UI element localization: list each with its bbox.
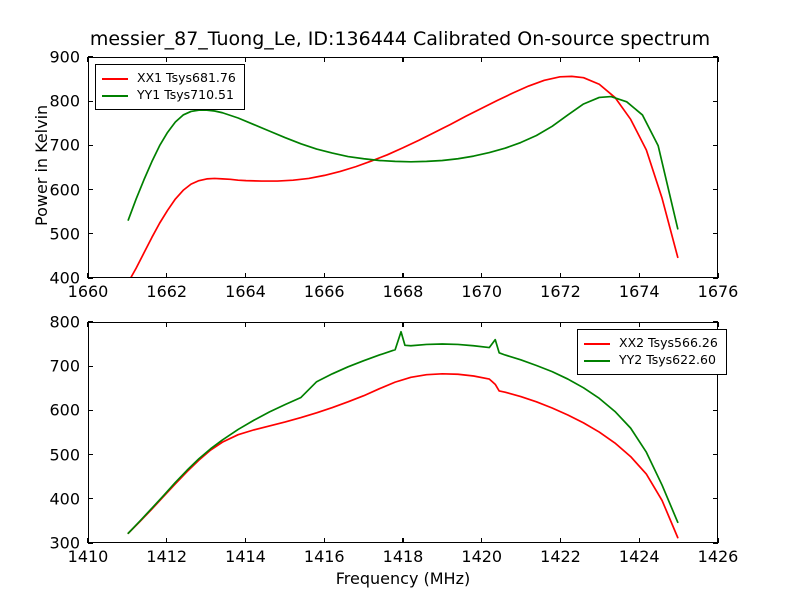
series-line [128,374,678,538]
legend-line-swatch-icon [102,95,128,97]
y-tick-mark [713,542,718,543]
x-tick-label: 1674 [619,282,660,301]
x-tick-mark [402,57,403,62]
y-tick-mark [713,277,718,278]
y-tick-mark [713,145,718,146]
x-tick-label: 1422 [540,547,581,566]
series-line [128,97,678,229]
y-tick-mark [713,410,718,411]
legend-entry: YY2 Tsys622.60 [584,352,718,369]
legend-entry: YY1 Tsys710.51 [102,87,236,104]
y-tick-mark [713,189,718,190]
y-tick-mark [88,542,93,543]
legend-label: YY1 Tsys710.51 [137,89,234,102]
figure-canvas: messier_87_Tuong_Le, ID:136444 Calibrate… [0,0,800,600]
x-tick-mark [481,322,482,327]
x-tick-mark [481,273,482,278]
x-tick-mark [639,57,640,62]
y-tick-mark [88,277,93,278]
y-tick-mark [88,410,93,411]
x-tick-label: 1420 [461,547,502,566]
x-tick-mark [245,273,246,278]
x-tick-mark [324,57,325,62]
y-tick-mark [713,233,718,234]
x-tick-mark [481,538,482,543]
x-tick-mark [402,322,403,327]
y-tick-label: 700 [28,357,80,376]
legend-line-swatch-icon [584,343,610,345]
x-tick-label: 1414 [225,547,266,566]
y-tick-mark [88,454,93,455]
x-tick-label: 1418 [383,547,424,566]
y-tick-label: 500 [28,445,80,464]
y-tick-mark [88,145,93,146]
y-tick-label: 400 [28,269,80,288]
x-tick-mark [717,57,718,62]
x-tick-label: 1676 [698,282,739,301]
y-tick-mark [88,189,93,190]
x-tick-mark [402,538,403,543]
legend-label: XX2 Tsys566.26 [619,337,718,350]
x-tick-mark [324,538,325,543]
x-tick-mark [166,322,167,327]
y-tick-label: 500 [28,224,80,243]
x-tick-mark [639,538,640,543]
x-tick-label: 1672 [540,282,581,301]
y-tick-label: 600 [28,401,80,420]
x-tick-mark [639,273,640,278]
x-tick-mark [717,322,718,327]
x-tick-mark [87,57,88,62]
page-title: messier_87_Tuong_Le, ID:136444 Calibrate… [0,28,800,50]
x-tick-label: 1416 [304,547,345,566]
x-tick-mark [245,322,246,327]
y-tick-mark [713,498,718,499]
x-tick-label: 1668 [383,282,424,301]
y-tick-mark [713,454,718,455]
x-tick-label: 1412 [146,547,187,566]
x-tick-mark [639,322,640,327]
x-tick-label: 1426 [698,547,739,566]
x-tick-mark [324,273,325,278]
x-tick-mark [560,273,561,278]
x-tick-mark [166,538,167,543]
x-tick-label: 1666 [304,282,345,301]
y-tick-mark [88,56,93,57]
x-tick-mark [560,57,561,62]
y-tick-mark [88,321,93,322]
legend-line-swatch-icon [584,360,610,362]
x-tick-label: 1662 [146,282,187,301]
legend-bottom: XX2 Tsys566.26YY2 Tsys622.60 [577,329,727,375]
x-tick-mark [402,273,403,278]
y-tick-mark [713,56,718,57]
y-tick-mark [713,101,718,102]
legend-entry: XX2 Tsys566.26 [584,335,718,352]
legend-entry: XX1 Tsys681.76 [102,70,236,87]
x-tick-label: 1664 [225,282,266,301]
x-tick-mark [560,538,561,543]
x-tick-label: 1670 [461,282,502,301]
y-tick-label: 800 [28,313,80,332]
x-tick-mark [560,322,561,327]
x-axis-label: Frequency (MHz) [336,569,470,588]
y-tick-mark [88,101,93,102]
y-tick-mark [88,498,93,499]
legend-label: YY2 Tsys622.60 [619,354,716,367]
x-tick-mark [481,57,482,62]
y-tick-label: 900 [28,48,80,67]
legend-top: XX1 Tsys681.76YY1 Tsys710.51 [95,64,245,110]
x-tick-label: 1424 [619,547,660,566]
x-tick-mark [245,538,246,543]
legend-line-swatch-icon [102,78,128,80]
y-tick-label: 300 [28,534,80,553]
y-axis-label: Power in Kelvin [32,104,51,225]
legend-label: XX1 Tsys681.76 [137,72,236,85]
x-tick-mark [245,57,246,62]
y-tick-label: 400 [28,489,80,508]
x-tick-mark [166,57,167,62]
x-tick-mark [166,273,167,278]
y-tick-mark [713,321,718,322]
y-tick-mark [88,366,93,367]
x-tick-mark [87,322,88,327]
x-tick-mark [324,322,325,327]
y-tick-mark [88,233,93,234]
